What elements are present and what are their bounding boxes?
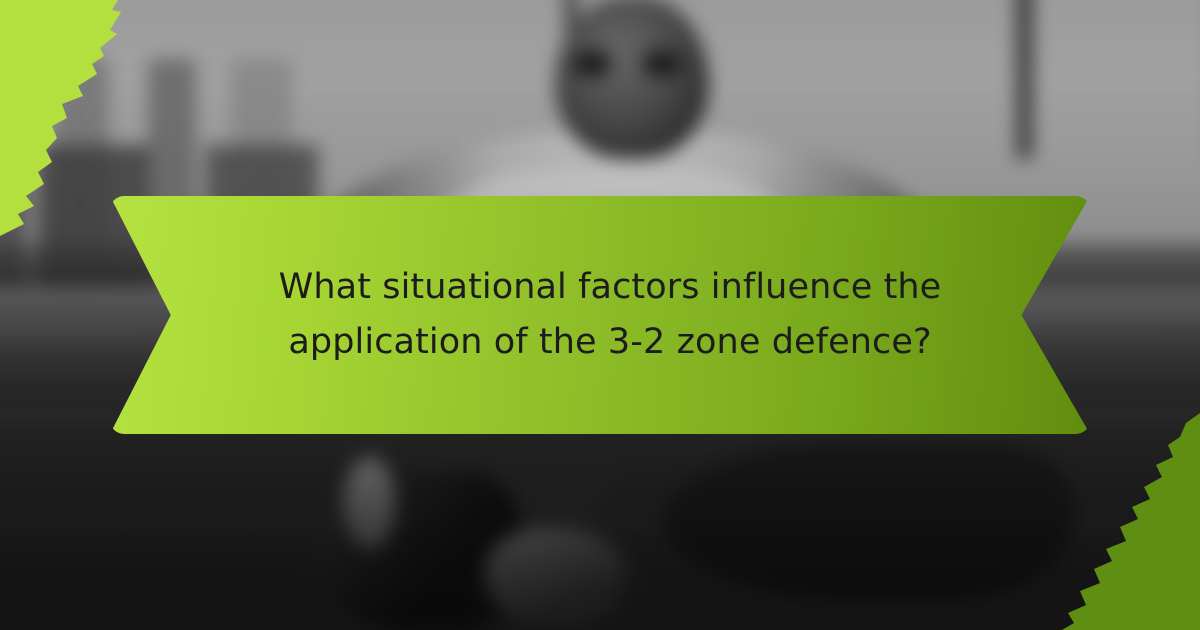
- headline-line-1: What situational factors influence the: [279, 267, 942, 308]
- question-card: What situational factors influence the a…: [0, 0, 1200, 630]
- headline-text-block: What situational factors influence the a…: [110, 196, 1090, 434]
- headline-line-2: application of the 3-2 zone defence?: [288, 322, 931, 363]
